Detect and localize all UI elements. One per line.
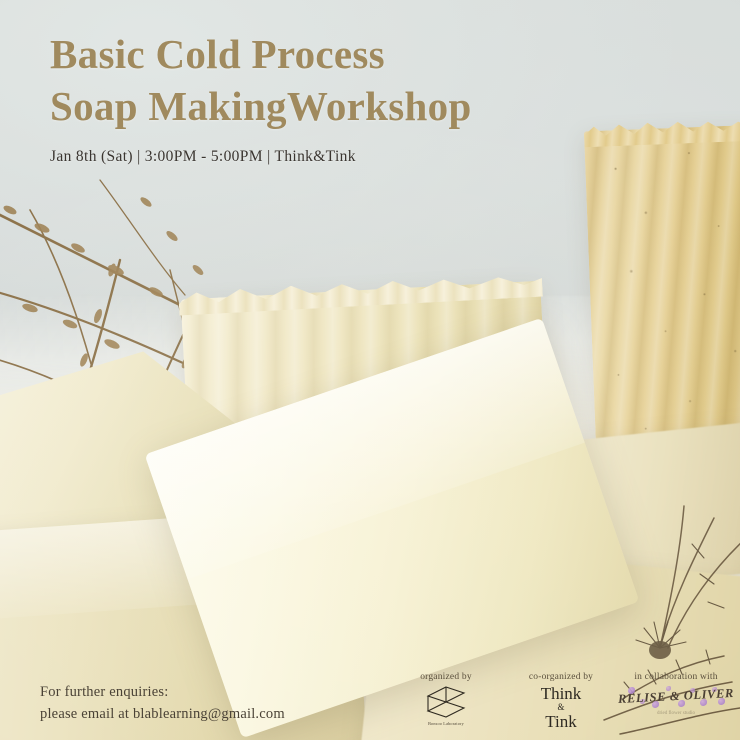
credit-collaborator: in collaboration with RELISE & OLIVER dr…: [622, 672, 730, 715]
floral-script-logo: RELISE & OLIVER dried flower studio: [622, 685, 730, 715]
tink-wordmark: Tink: [507, 713, 615, 731]
organizer-caption: Bonsoo Laboratory: [392, 721, 500, 726]
collaborator-name: RELISE & OLIVER: [618, 686, 735, 707]
enquiries-heading: For further enquiries:: [40, 682, 285, 704]
enquiries-email: please email at blablearning@gmail.com: [40, 704, 285, 726]
title-line-2: Soap MakingWorkshop: [50, 80, 472, 132]
soap-workshop-poster: Basic Cold Process Soap MakingWorkshop J…: [0, 0, 740, 740]
title-line-1: Basic Cold Process: [50, 28, 472, 80]
page-title: Basic Cold Process Soap MakingWorkshop: [50, 28, 472, 133]
credits-row: organized by Bonsoo Laboratory co-organi…: [392, 672, 730, 730]
credit-organizer: organized by Bonsoo Laboratory: [392, 672, 500, 726]
event-details: Jan 8th (Sat) | 3:00PM - 5:00PM | Think&…: [50, 148, 356, 166]
collaborator-subtitle: dried flower studio: [657, 711, 695, 716]
credit-co-organizer: co-organized by Think & Tink: [507, 672, 615, 730]
enquiries-block: For further enquiries: please email at b…: [40, 682, 285, 726]
poster-content: Basic Cold Process Soap MakingWorkshop J…: [0, 0, 740, 740]
credit-label-organized-by: organized by: [392, 672, 500, 682]
think-wordmark: Think: [507, 685, 615, 703]
credit-label-collaboration: in collaboration with: [622, 672, 730, 682]
credit-label-co-organized-by: co-organized by: [507, 672, 615, 682]
bowtie-logo-icon: [426, 685, 466, 719]
